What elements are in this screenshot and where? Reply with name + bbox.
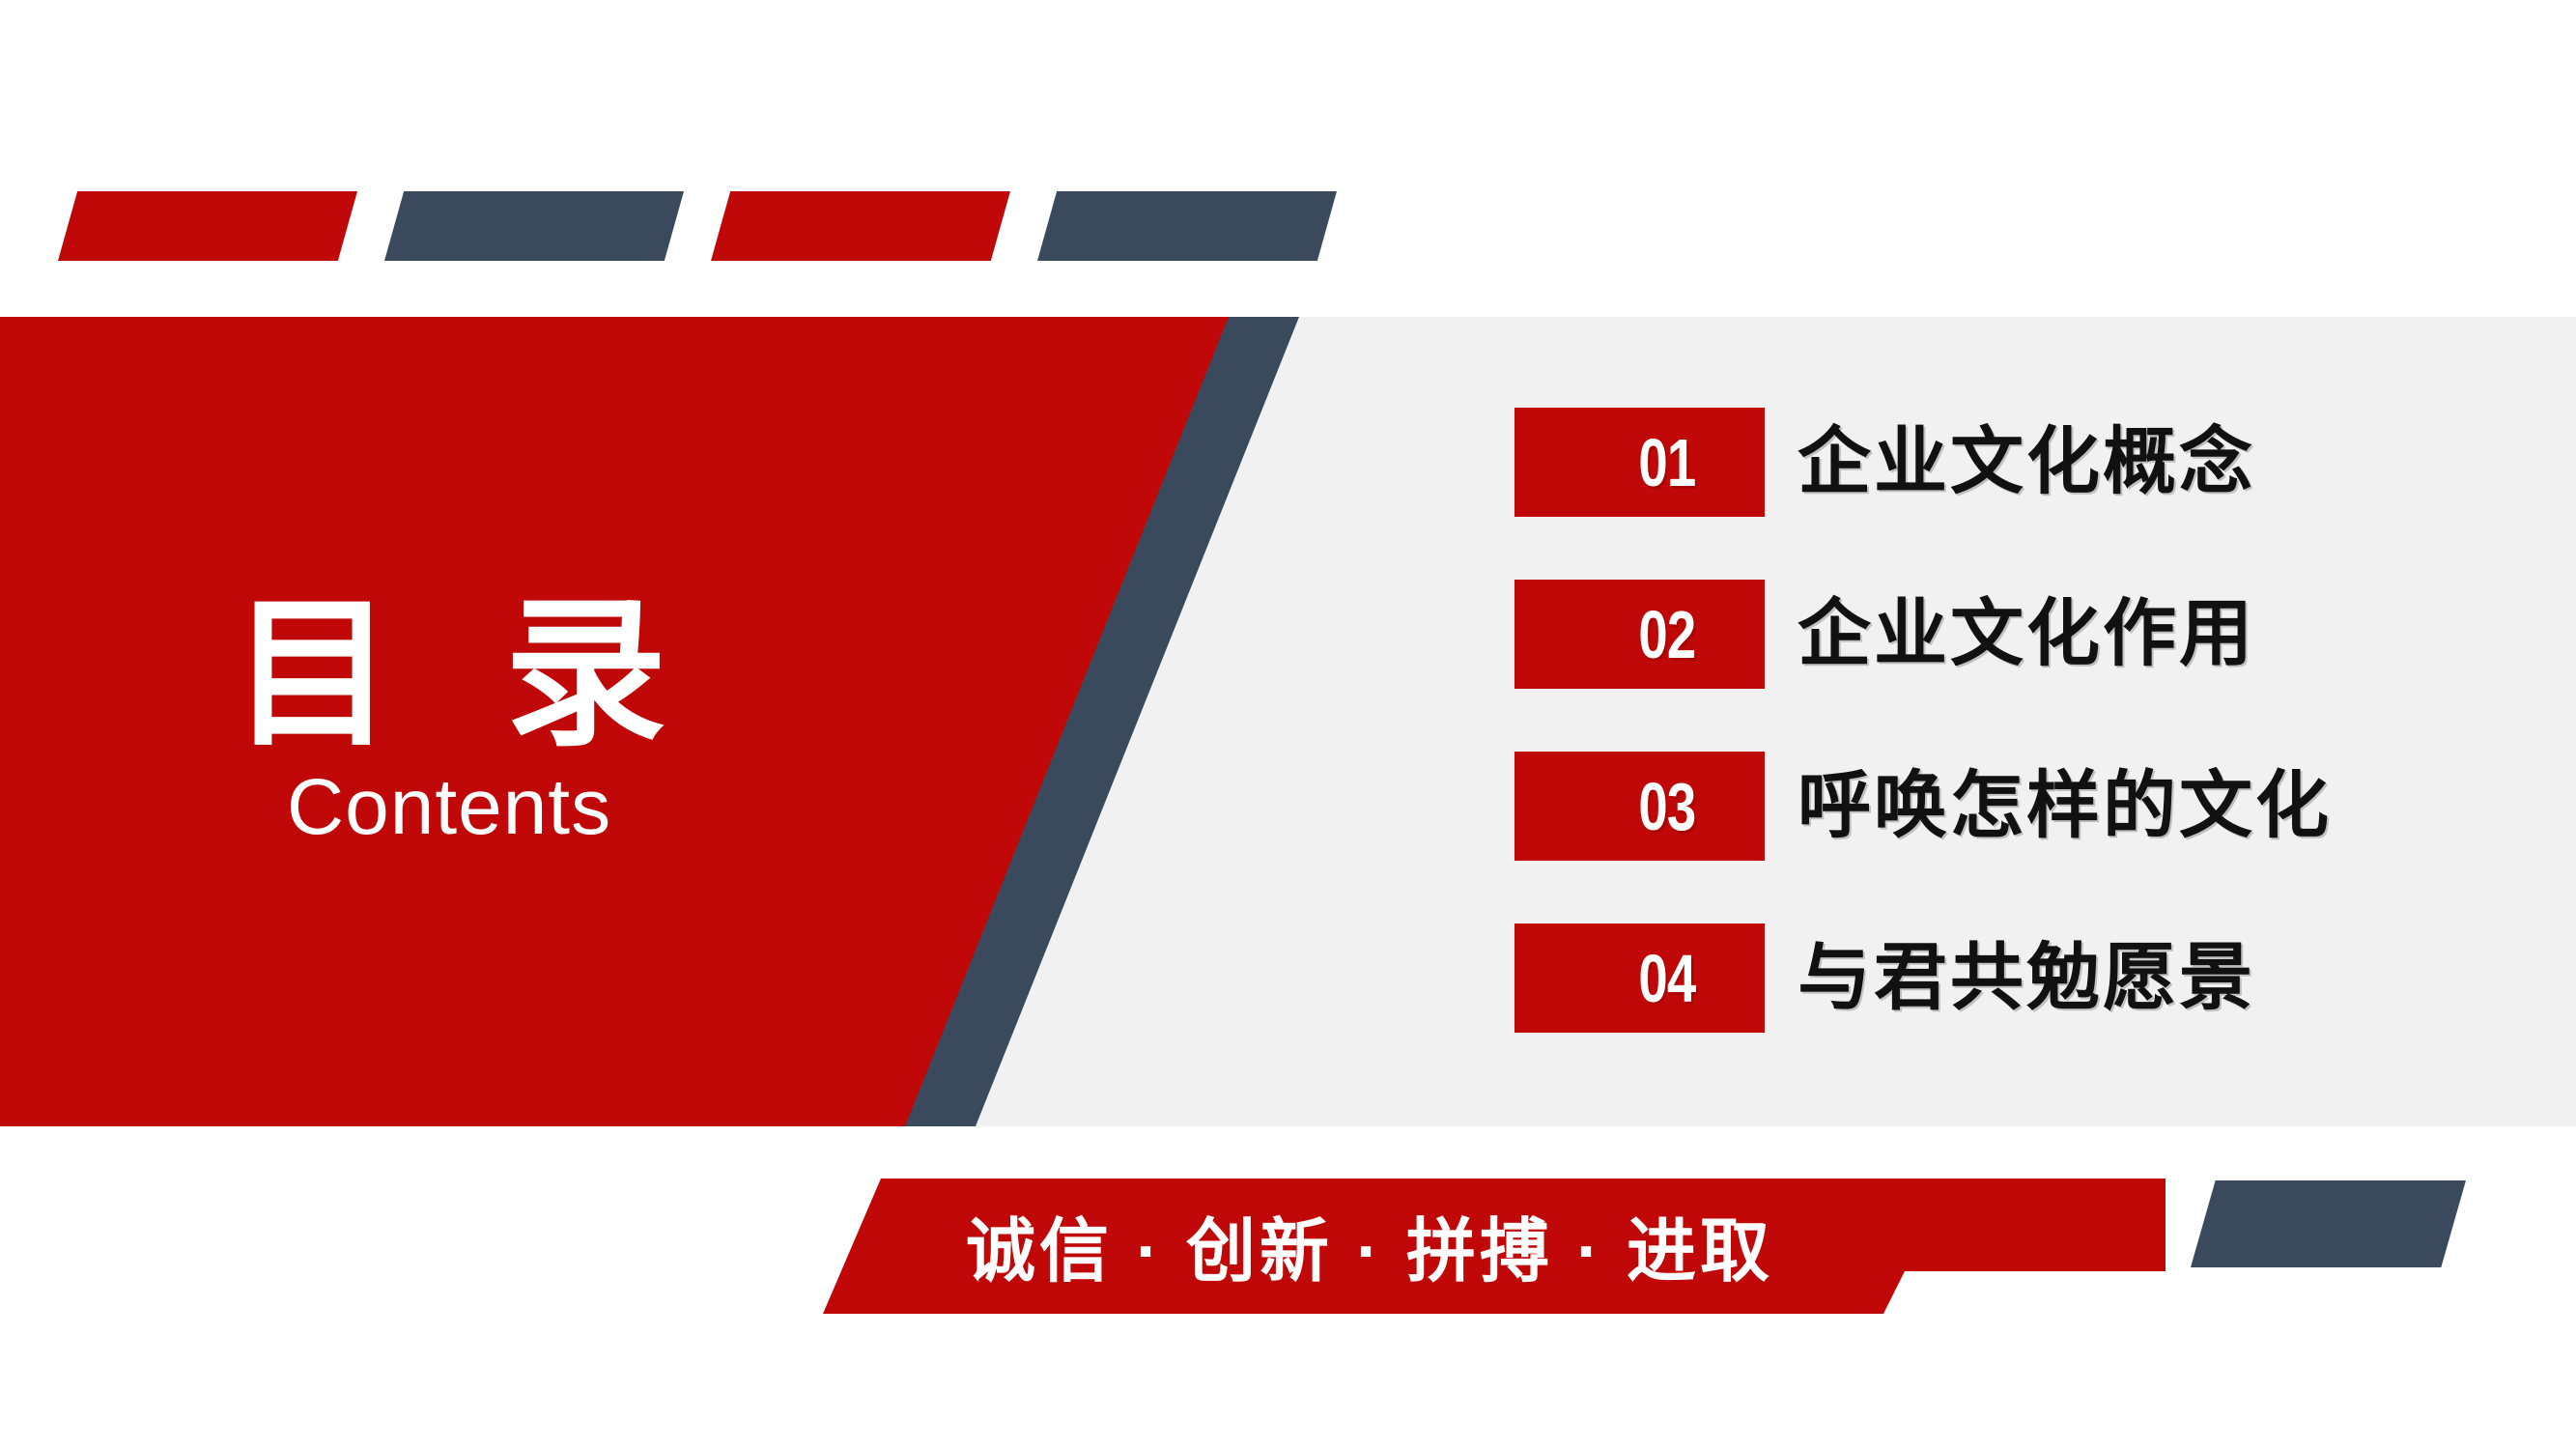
contents-item-02[interactable]: 02 企业文化作用 — [1514, 580, 2480, 689]
top-decor-bar-2 — [384, 191, 684, 261]
contents-number-box-01: 01 — [1514, 408, 1765, 517]
contents-item-04[interactable]: 04 与君共勉愿景 — [1514, 923, 2480, 1033]
contents-number-02: 02 — [1638, 601, 1695, 668]
contents-number-box-03: 03 — [1514, 752, 1765, 861]
top-decor-bar-4 — [1037, 191, 1337, 261]
contents-label-02: 企业文化作用 — [1798, 598, 2255, 671]
contents-item-01[interactable]: 01 企业文化概念 — [1514, 408, 2480, 517]
contents-label-03: 呼唤怎样的文化 — [1798, 770, 2332, 843]
contents-list: 01 企业文化概念 02 企业文化作用 03 呼唤怎样的文化 04 与君共勉愿景 — [1514, 408, 2480, 1033]
contents-label-01: 企业文化概念 — [1798, 426, 2255, 499]
slide-canvas: 目 录 Contents 01 企业文化概念 02 企业文化作用 03 呼唤怎样… — [0, 0, 2576, 1449]
footer-navy-accent — [2191, 1180, 2466, 1267]
contents-number-01: 01 — [1638, 429, 1695, 497]
contents-number-03: 03 — [1638, 773, 1695, 840]
top-decor-bar-3 — [711, 191, 1010, 261]
contents-number-box-02: 02 — [1514, 580, 1765, 689]
footer-slogan-banner — [823, 1179, 2166, 1314]
contents-number-04: 04 — [1638, 945, 1695, 1012]
contents-number-box-04: 04 — [1514, 923, 1765, 1033]
contents-label-04: 与君共勉愿景 — [1798, 942, 2255, 1015]
top-decor-bar-1 — [58, 191, 357, 261]
contents-item-03[interactable]: 03 呼唤怎样的文化 — [1514, 752, 2480, 861]
